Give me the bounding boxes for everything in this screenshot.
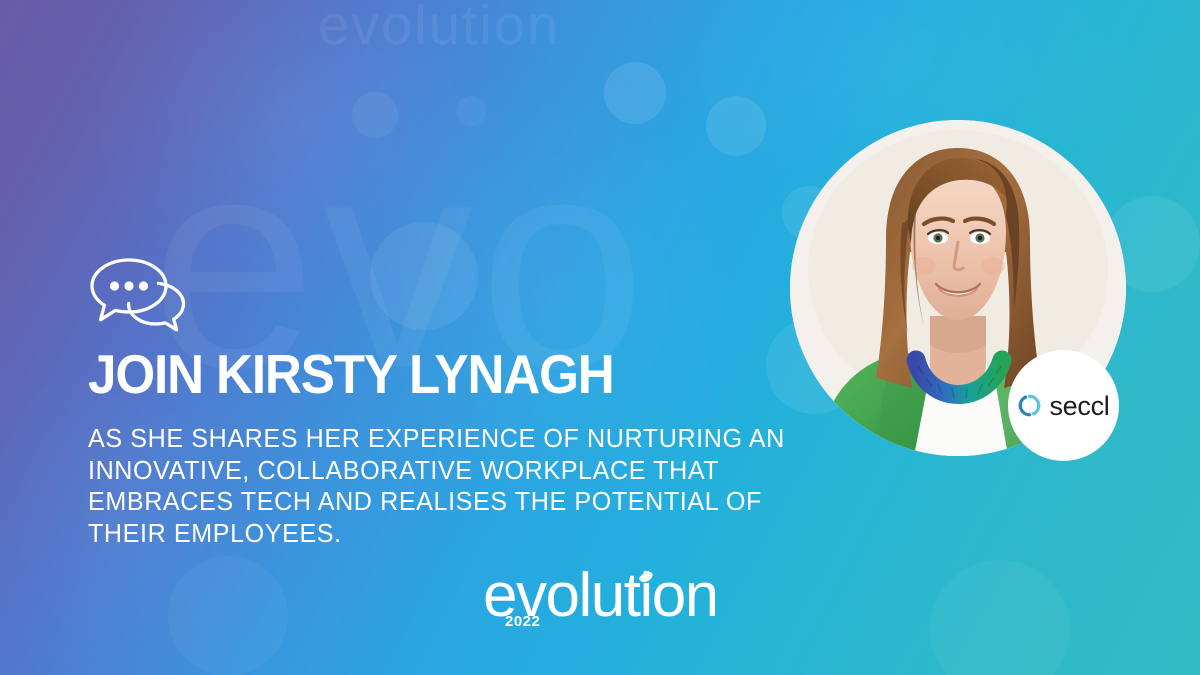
bokeh-circle [168, 556, 288, 675]
evolution-year: 2022 [505, 613, 540, 630]
seccl-wordmark: seccl [1049, 393, 1109, 420]
body-copy: AS SHE SHARES HER EXPERIENCE OF NURTURIN… [88, 424, 807, 550]
body-copy-line: INNOVATIVE, COLLABORATIVE WORKPLACE THAT [88, 456, 807, 488]
promo-poster: evo evolution JOIN KIRSTY LYNAGH AS SHE … [0, 0, 1200, 675]
body-copy-line: AS SHE SHARES HER EXPERIENCE OF NURTURIN… [88, 424, 807, 456]
seccl-brand-badge: seccl [1008, 350, 1119, 461]
bokeh-circle [604, 62, 666, 124]
bokeh-circle [456, 96, 486, 126]
body-copy-line: EMBRACES TECH AND REALISES THE POTENTIAL… [88, 487, 807, 519]
bokeh-circle [370, 222, 478, 330]
seccl-logo-icon [1017, 393, 1042, 418]
background-watermark-small: evolution [318, 0, 560, 57]
speech-bubbles-icon [88, 256, 188, 332]
bokeh-circle [352, 92, 398, 138]
bokeh-circle [706, 96, 766, 156]
page-title: JOIN KIRSTY LYNAGH [88, 347, 614, 402]
evolution-event-logo: evolution 2022 [483, 566, 715, 632]
body-copy-line: THEIR EMPLOYEES. [88, 519, 807, 551]
